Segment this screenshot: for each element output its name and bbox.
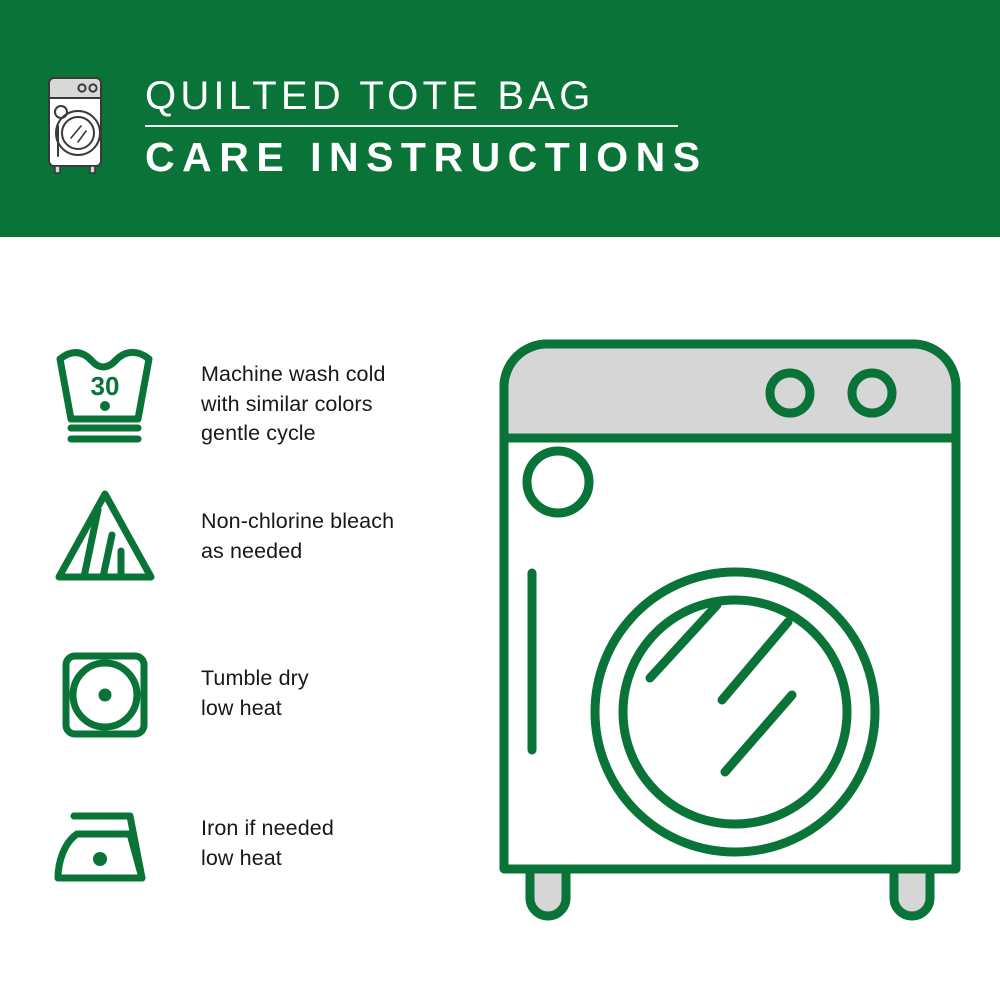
tumble-dry-low-heat-symbol — [50, 640, 160, 750]
iron-low-heat-symbol — [50, 796, 160, 906]
page-title-primary: QUILTED TOTE BAG — [145, 72, 765, 120]
title-divider — [145, 125, 678, 127]
care-instructions-infographic: QUILTED TOTE BAG CARE INSTRUCTIONS 30 — [0, 0, 1000, 1000]
washing-machine-illustration — [490, 330, 970, 930]
care-text-line: Tumble dry — [201, 664, 471, 694]
care-text-line: Non-chlorine bleach — [201, 507, 471, 537]
care-text-iron: Iron if needed low heat — [201, 814, 471, 873]
care-text-line: as needed — [201, 537, 471, 567]
care-text-line: gentle cycle — [201, 419, 471, 449]
machine-wash-30-gentle-symbol: 30 — [50, 341, 160, 451]
page-title-secondary: CARE INSTRUCTIONS — [145, 133, 765, 181]
care-text-machine-wash: Machine wash cold with similar colors ge… — [201, 360, 471, 449]
care-text-line: Iron if needed — [201, 814, 471, 844]
wash-temperature-value: 30 — [91, 371, 120, 401]
non-chlorine-bleach-symbol — [50, 482, 160, 592]
washing-machine-icon — [45, 72, 107, 174]
care-text-bleach: Non-chlorine bleach as needed — [201, 507, 471, 566]
header-title-block: QUILTED TOTE BAG CARE INSTRUCTIONS — [145, 72, 765, 181]
care-text-line: low heat — [201, 694, 471, 724]
care-text-line: low heat — [201, 844, 471, 874]
header-banner: QUILTED TOTE BAG CARE INSTRUCTIONS — [0, 0, 1000, 237]
care-text-line: Machine wash cold — [201, 360, 471, 390]
care-text-line: with similar colors — [201, 390, 471, 420]
care-instruction-list: 30 Machine wash cold with similar colors… — [0, 237, 470, 1000]
care-text-tumble-dry: Tumble dry low heat — [201, 664, 471, 723]
